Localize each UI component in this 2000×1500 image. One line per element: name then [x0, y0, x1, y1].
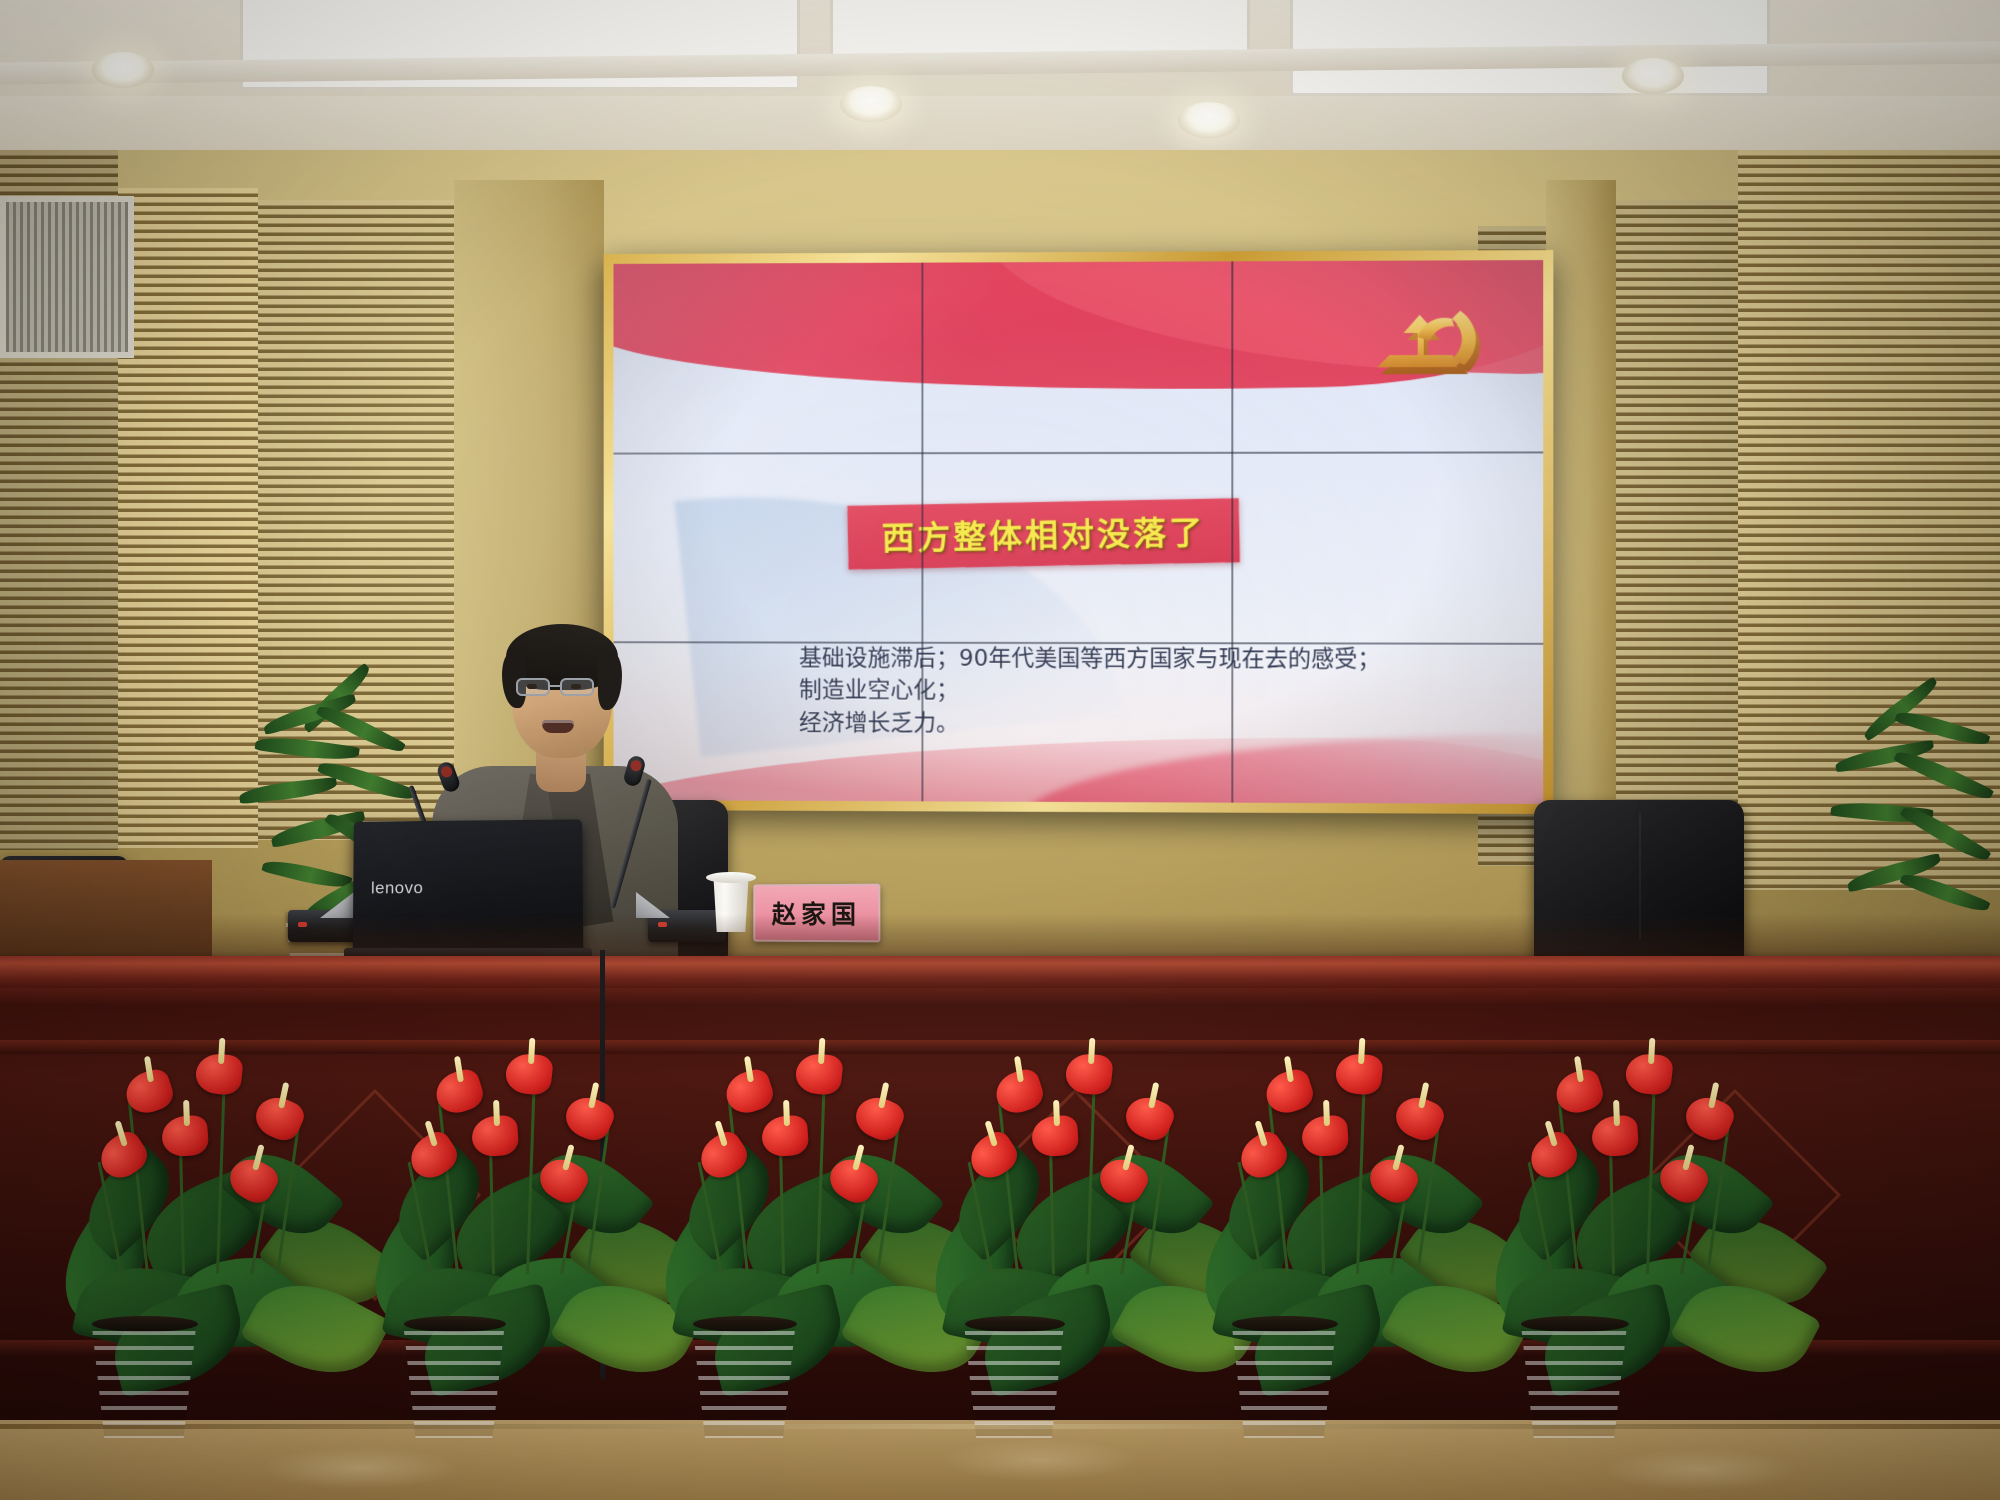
glasses-bridge [550, 685, 560, 687]
plant-pot [679, 1320, 809, 1438]
slide-body-text: 基础设施滞后；90年代美国等西方国家与现在去的感受； 制造业空心化； 经济增长乏… [799, 642, 1507, 742]
downlight [92, 52, 154, 88]
plant-pot [1218, 1320, 1350, 1438]
speaker-eye-right [571, 684, 581, 689]
anthurium-spadix [783, 1100, 790, 1126]
anthurium-spadix [1323, 1100, 1330, 1126]
potted-anthurium [1200, 1020, 1500, 1440]
downlight [840, 86, 902, 122]
laptop-brand-logo: lenovo [371, 878, 424, 898]
paper-cup-rim [706, 872, 756, 883]
downlight [1622, 58, 1684, 94]
desk-shadow [0, 914, 2000, 960]
anthurium-spadix [1053, 1100, 1060, 1126]
anthurium-spadix [1613, 1100, 1620, 1126]
downlight [1178, 102, 1240, 138]
plant-pot [390, 1320, 518, 1438]
potted-anthurium [60, 1020, 360, 1440]
slide-body-line-2: 制造业空心化； [799, 675, 1507, 709]
potted-anthurium [1490, 1020, 1790, 1440]
slide-title-text: 西方整体相对没落了 [881, 513, 1205, 558]
potted-anthurium [930, 1020, 1230, 1440]
speaker-eye-left [527, 684, 537, 689]
anthurium-spadix [183, 1100, 190, 1126]
speaker-hair-side-right [598, 652, 622, 710]
conference-room-scene: 西方整体相对没落了 基础设施滞后；90年代美国等西方国家与现在去的感受； 制造业… [0, 0, 2000, 1500]
anthurium-spadix [493, 1100, 500, 1126]
plant-pot [78, 1320, 210, 1438]
plant-pot [951, 1320, 1077, 1438]
speaker-mouth [542, 720, 574, 733]
video-wall-screen[interactable]: 西方整体相对没落了 基础设施滞后；90年代美国等西方国家与现在去的感受； 制造业… [614, 260, 1544, 804]
slide-title-banner: 西方整体相对没落了 [847, 498, 1240, 569]
cpc-emblem-icon [1359, 293, 1494, 398]
slide-body-line-3: 经济增长乏力。 [799, 707, 1507, 742]
panel-bezel-vertical [1232, 261, 1234, 802]
potted-anthurium [660, 1020, 960, 1440]
desk-top [0, 956, 2000, 990]
video-wall-frame[interactable]: 西方整体相对没落了 基础设施滞后；90年代美国等西方国家与现在去的感受； 制造业… [604, 250, 1554, 814]
panel-bezel-vertical [921, 263, 923, 802]
potted-anthurium [370, 1020, 670, 1440]
slide-body-line-1: 基础设施滞后；90年代美国等西方国家与现在去的感受； [799, 642, 1507, 676]
